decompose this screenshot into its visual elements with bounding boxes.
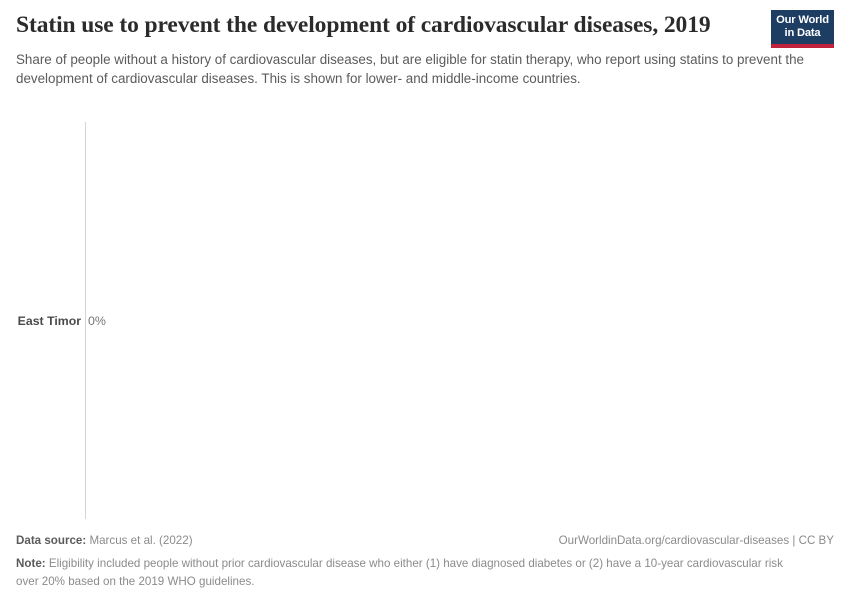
logo-line-2: in Data	[785, 27, 821, 40]
bar-category-label: East Timor	[0, 314, 81, 328]
bar-track: 0%	[86, 310, 850, 332]
our-world-in-data-logo[interactable]: Our World in Data	[771, 10, 834, 48]
note-label: Note:	[16, 557, 46, 570]
data-source-label: Data source:	[16, 534, 86, 547]
owid-url-link[interactable]: OurWorldinData.org/cardiovascular-diseas…	[559, 532, 834, 549]
data-source-value: Marcus et al. (2022)	[86, 534, 192, 547]
chart-subtitle: Share of people without a history of car…	[16, 50, 828, 88]
chart-header: Statin use to prevent the development of…	[16, 10, 834, 88]
owid-chart-page: { "header": { "title": "Statin use to pr…	[0, 0, 850, 600]
page-title: Statin use to prevent the development of…	[16, 10, 716, 41]
title-block: Statin use to prevent the development of…	[16, 10, 716, 41]
logo-line-1: Our World	[776, 14, 829, 27]
note-text: Eligibility included people without prio…	[16, 557, 783, 587]
chart-note: Note: Eligibility included people withou…	[16, 555, 806, 589]
chart-footer: Data source: Marcus et al. (2022) OurWor…	[16, 532, 834, 590]
data-source: Data source: Marcus et al. (2022)	[16, 532, 193, 549]
footer-top-row: Data source: Marcus et al. (2022) OurWor…	[16, 532, 834, 549]
bar-row[interactable]: East Timor0%	[0, 310, 850, 332]
chart-area: East Timor0%	[0, 118, 850, 518]
bar-value-label: 0%	[88, 314, 106, 328]
